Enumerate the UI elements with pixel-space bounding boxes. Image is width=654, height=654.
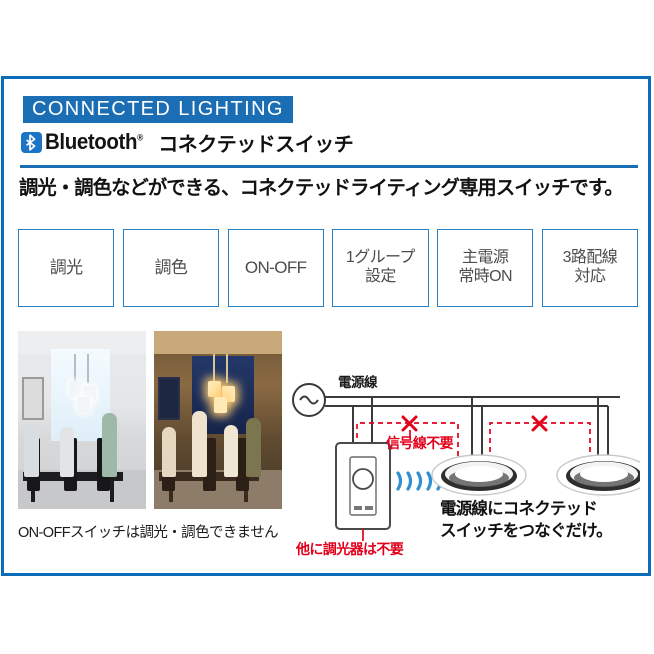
conclusion-line-2: スイッチをつなぐだけ。 [440,521,612,543]
conclusion-line-1: 電源線にコネクテッド [440,499,612,521]
feature-box-color-tuning: 調色 [123,229,219,307]
power-line-label: 電源線 [338,371,377,391]
photo-caption: ON-OFFスイッチは調光・調色できません [18,521,278,542]
feature-label-line2: 対応 [563,268,618,287]
dining-room-warm-photo [154,331,282,509]
feature-label: 調色 [154,258,187,278]
signal-line-not-needed-note: 信号線不要 [386,433,453,453]
lead-text: 調光・調色などができる、コネクテッドライティング専用スイッチです。 [19,171,635,200]
feature-label-line1: 3路配線 [563,249,618,268]
feature-box-on-off: ON-OFF [228,229,324,307]
feature-box-one-group: 1グループ 設定 [332,229,428,307]
feature-box-row: 調光 調色 ON-OFF 1グループ 設定 主電源 常時ON [18,229,638,307]
bluetooth-wordmark: Bluetooth® [45,129,143,155]
no-dimmer-needed-note: 他に調光器は不要 [296,539,403,559]
feature-label-line2: 常時ON [458,268,512,287]
wall-switch-icon [336,443,390,529]
feature-label-line1: 主電源 [458,249,512,268]
header-divider [20,165,638,168]
feature-label-line1: 1グループ [346,249,415,268]
feature-box-three-way: 3路配線 対応 [542,229,638,307]
feature-box-main-power: 主電源 常時ON [437,229,533,307]
page-root: CONNECTED LIGHTING Bluetooth® コネクテッドスイッチ… [0,0,654,654]
feature-box-dimming: 調光 [18,229,114,307]
feature-label: 調光 [50,258,83,278]
downlight-icon [432,455,526,495]
downlight-icon [557,455,640,495]
photo-row [18,331,282,509]
feature-label-line2: 設定 [346,268,415,287]
dining-room-daylight-photo [18,331,146,509]
registered-mark: ® [137,133,143,143]
bluetooth-brand-row: Bluetooth® コネクテッドスイッチ [21,128,353,156]
diagram-conclusion-text: 電源線にコネクテッド スイッチをつなぐだけ。 [440,499,612,543]
product-name: コネクテッドスイッチ [158,128,353,157]
bluetooth-icon [21,132,42,153]
connected-lighting-badge: CONNECTED LIGHTING [23,96,293,123]
feature-label: ON-OFF [245,258,307,278]
wiring-diagram: 電源線 信号線不要 他に調光器は不要 電源線にコネクテッド スイッチをつなぐだけ… [290,375,640,557]
content-frame: CONNECTED LIGHTING Bluetooth® コネクテッドスイッチ… [1,76,651,576]
ac-source-icon [293,384,325,416]
